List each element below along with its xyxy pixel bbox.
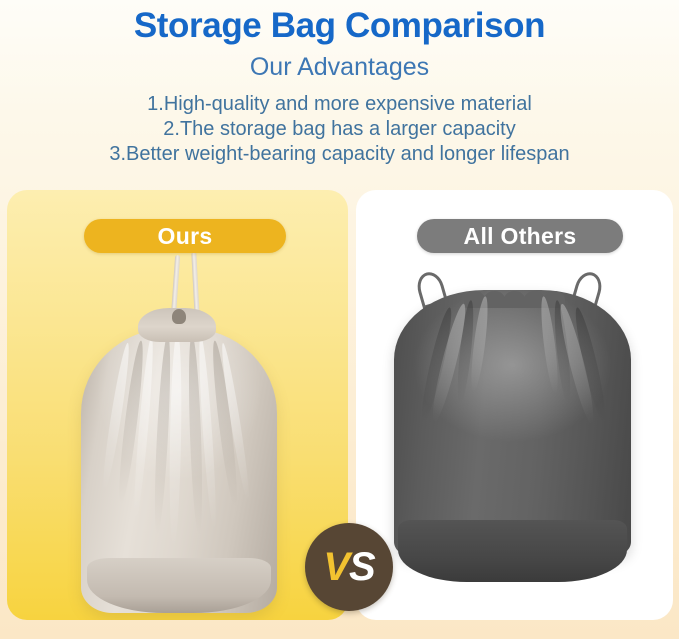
- panel-all-others: All Others: [356, 190, 673, 620]
- ours-bag-illustration: [7, 190, 348, 620]
- ours-bag-bottom: [87, 558, 271, 613]
- advantage-item-1: 1.High-quality and more expensive materi…: [147, 92, 532, 117]
- panel-ours: Ours DOREIMI: [7, 190, 348, 620]
- page-subtitle: Our Advantages: [0, 50, 679, 84]
- badge-all-others: All Others: [417, 219, 623, 253]
- advantage-item-2: 2.The storage bag has a larger capacity: [163, 117, 515, 142]
- vs-letter-v: V: [323, 547, 349, 587]
- ours-bag-knot: [172, 309, 186, 324]
- vs-badge: VS: [305, 523, 393, 611]
- vs-letter-s: S: [349, 547, 375, 587]
- others-bag-body: [394, 290, 631, 558]
- badge-ours: Ours: [84, 219, 286, 253]
- others-bag-bottom: [398, 520, 627, 582]
- page-title: Storage Bag Comparison: [0, 4, 679, 48]
- advantage-item-3: 3.Better weight-bearing capacity and lon…: [109, 142, 569, 167]
- badge-ours-label: Ours: [158, 223, 213, 250]
- others-bag-ruffle: [504, 291, 525, 308]
- advantages-list: 1.High-quality and more expensive materi…: [0, 92, 679, 167]
- badge-all-others-label: All Others: [464, 223, 577, 250]
- comparison-panels: Ours DOREIMI All Others: [0, 190, 679, 622]
- others-bag-illustration: [356, 190, 673, 620]
- header: Storage Bag Comparison Our Advantages 1.…: [0, 0, 679, 167]
